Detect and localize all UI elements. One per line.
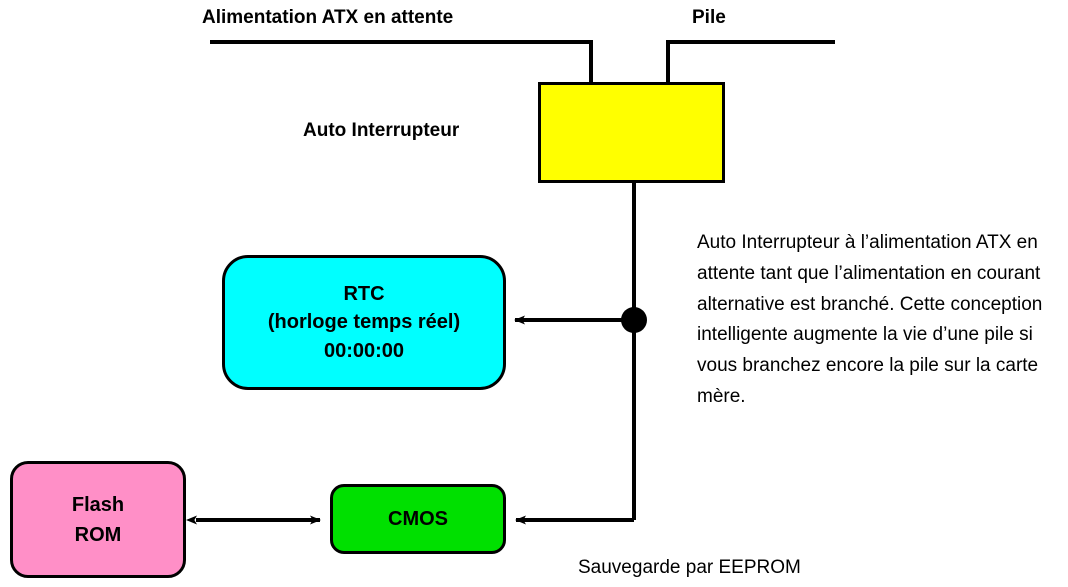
diagram-canvas: Alimentation ATX en attente Pile Auto In… [0, 0, 1068, 587]
node-cmos-box: CMOS [330, 484, 506, 554]
rtc-title: RTC [343, 280, 384, 308]
rtc-time-value: 00:00:00 [324, 337, 404, 365]
wire-atx-standby [210, 42, 591, 112]
junction-dot-rtc [621, 307, 647, 333]
cmos-label: CMOS [388, 508, 448, 531]
flash-rom-line2: ROM [75, 520, 122, 550]
node-flash-rom-box: Flash ROM [10, 461, 186, 578]
rtc-subtitle: (horloge temps réel) [268, 308, 460, 336]
node-auto-switch-box [538, 82, 725, 183]
label-atx-standby: Alimentation ATX en attente [202, 8, 453, 29]
label-battery: Pile [692, 8, 726, 29]
label-auto-switch: Auto Interrupteur [303, 121, 459, 142]
node-rtc-box: RTC (horloge temps réel) 00:00:00 [222, 255, 506, 390]
caption-eeprom-backup: Sauvegarde par EEPROM [578, 557, 801, 579]
flash-rom-line1: Flash [72, 490, 124, 520]
description-paragraph: Auto Interrupteur à l’alimentation ATX e… [697, 228, 1063, 413]
